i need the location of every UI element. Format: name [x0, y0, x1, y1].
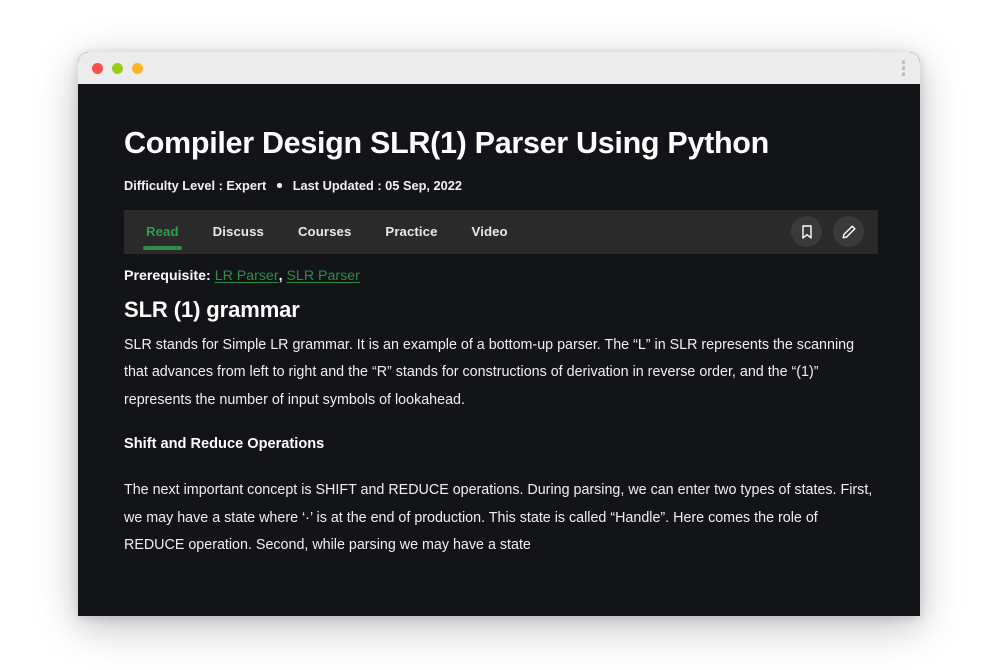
edit-pencil-icon	[841, 224, 857, 240]
kebab-dot-1	[902, 60, 906, 64]
last-updated: Last Updated : 05 Sep, 2022	[293, 178, 462, 193]
kebab-dot-2	[902, 66, 906, 70]
tab-read[interactable]: Read	[146, 210, 179, 254]
tab-courses[interactable]: Courses	[298, 210, 351, 254]
screenshot-stage: Compiler Design SLR(1) Parser Using Pyth…	[0, 0, 1000, 670]
close-button[interactable]	[92, 63, 103, 74]
kebab-dot-3	[902, 72, 906, 76]
window-title-bar	[78, 52, 920, 84]
edit-button[interactable]	[833, 216, 864, 247]
article-page: Compiler Design SLR(1) Parser Using Pyth…	[78, 84, 920, 616]
tab-video[interactable]: Video	[472, 210, 508, 254]
meta-separator-dot	[277, 183, 282, 188]
heading-slr-grammar: SLR (1) grammar	[124, 297, 874, 323]
tab-video-label: Video	[472, 224, 508, 239]
page-title: Compiler Design SLR(1) Parser Using Pyth…	[124, 126, 874, 162]
browser-window: Compiler Design SLR(1) Parser Using Pyth…	[78, 52, 920, 616]
prerequisite-separator: ,	[279, 268, 283, 284]
paragraph-slr-definition: SLR stands for Simple LR grammar. It is …	[124, 332, 874, 414]
link-slr-parser[interactable]: SLR Parser	[286, 268, 359, 284]
heading-shift-reduce: Shift and Reduce Operations	[124, 436, 874, 452]
article-meta: Difficulty Level : Expert Last Updated :…	[124, 178, 874, 193]
article-tab-bar: Read Discuss Courses Practice Video	[124, 210, 878, 254]
bookmark-button[interactable]	[791, 216, 822, 247]
tab-courses-label: Courses	[298, 224, 351, 239]
tab-list: Read Discuss Courses Practice Video	[146, 210, 508, 254]
prerequisite-line: Prerequisite: LR Parser, SLR Parser	[124, 268, 874, 284]
tab-practice-label: Practice	[385, 224, 437, 239]
tab-discuss-label: Discuss	[213, 224, 264, 239]
difficulty-level: Difficulty Level : Expert	[124, 178, 266, 193]
kebab-menu-icon[interactable]	[900, 58, 908, 78]
paragraph-shift-reduce: The next important concept is SHIFT and …	[124, 477, 874, 559]
tab-read-label: Read	[146, 224, 179, 239]
minimize-button[interactable]	[132, 63, 143, 74]
tab-practice[interactable]: Practice	[385, 210, 437, 254]
maximize-button[interactable]	[112, 63, 123, 74]
tab-action-buttons	[791, 210, 864, 254]
prerequisite-label: Prerequisite:	[124, 268, 211, 284]
traffic-light-controls	[92, 63, 143, 74]
tab-discuss[interactable]: Discuss	[213, 210, 264, 254]
bookmark-icon	[800, 224, 814, 240]
link-lr-parser[interactable]: LR Parser	[215, 268, 279, 284]
